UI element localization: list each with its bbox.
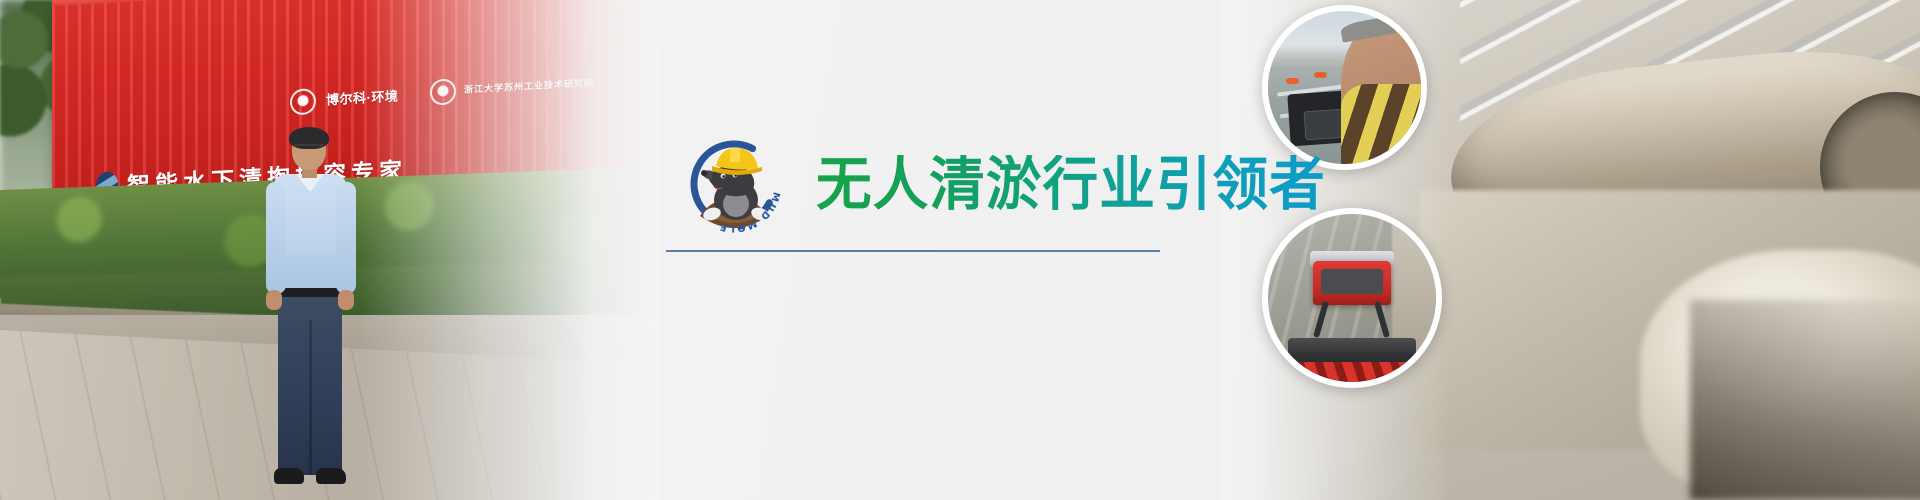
headline: 无人清淤行业引领者	[816, 155, 1326, 213]
center-content: MUD MOLE 无人清淤行业引领者	[648, 0, 1328, 500]
left-photo-fade	[360, 0, 660, 500]
figure-belt	[278, 288, 342, 297]
figure-shoe-left	[274, 468, 304, 484]
shadow-overlay	[1690, 300, 1920, 500]
left-photo: 博尔科·环境 浙江大学苏州工业技术研究院 智能水下清掏扩容专家	[0, 0, 660, 500]
mud-mole-logo[interactable]: MUD MOLE	[678, 128, 790, 240]
divider	[666, 250, 1160, 252]
figure-arm-left	[266, 182, 286, 294]
brand-row: MUD MOLE 无人清淤行业引领者	[678, 128, 1347, 240]
figure-arm-right	[336, 182, 356, 294]
hero-banner: 博尔科·环境 浙江大学苏州工业技术研究院 智能水下清掏扩容专家	[0, 0, 1920, 500]
operator-striped-shirt	[1341, 84, 1427, 164]
figure-trousers	[278, 290, 342, 475]
engineer-figure	[258, 130, 368, 500]
figure-hand-right	[338, 290, 354, 310]
figure-shoe-right	[316, 468, 346, 484]
figure-hand-left	[266, 290, 282, 310]
bolke-logo-icon	[290, 88, 316, 115]
figure-glasses-icon	[294, 144, 324, 152]
